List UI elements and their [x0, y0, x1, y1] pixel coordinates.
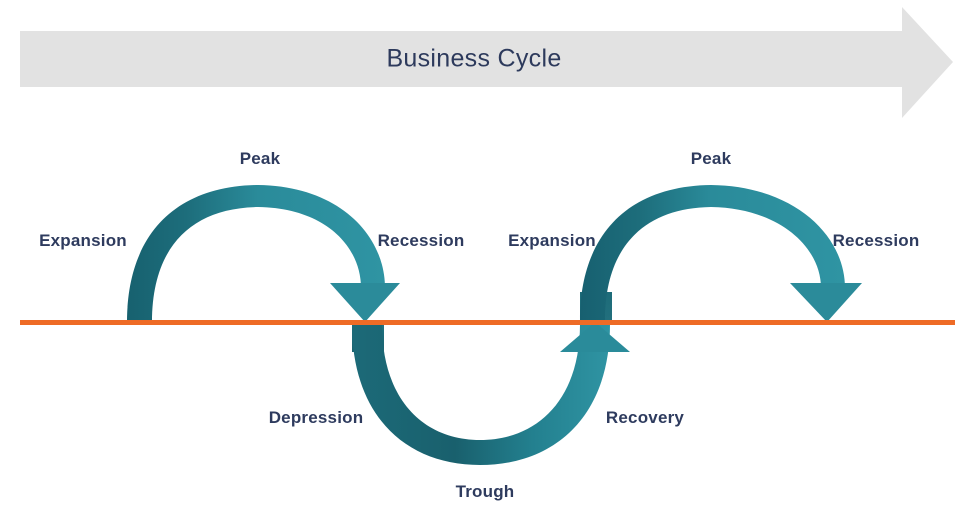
diagram-canvas	[0, 0, 973, 513]
label-recovery: Recovery	[606, 408, 684, 428]
expansion-arc-1	[127, 185, 258, 322]
label-recession-1: Recession	[378, 231, 465, 251]
label-depression: Depression	[269, 408, 364, 428]
page-title: Business Cycle	[386, 45, 561, 74]
label-recession-2: Recession	[833, 231, 920, 251]
label-expansion-2: Expansion	[508, 231, 596, 251]
label-peak-2: Peak	[691, 149, 732, 169]
label-trough: Trough	[456, 482, 515, 502]
equilibrium-trend-line	[20, 320, 955, 325]
business-cycle-diagram: Business Cycle Expansion Peak Recession …	[0, 0, 973, 513]
label-peak-1: Peak	[240, 149, 281, 169]
expansion-arc-2	[580, 185, 711, 320]
recession-arc-2	[711, 185, 862, 322]
label-expansion-1: Expansion	[39, 231, 127, 251]
